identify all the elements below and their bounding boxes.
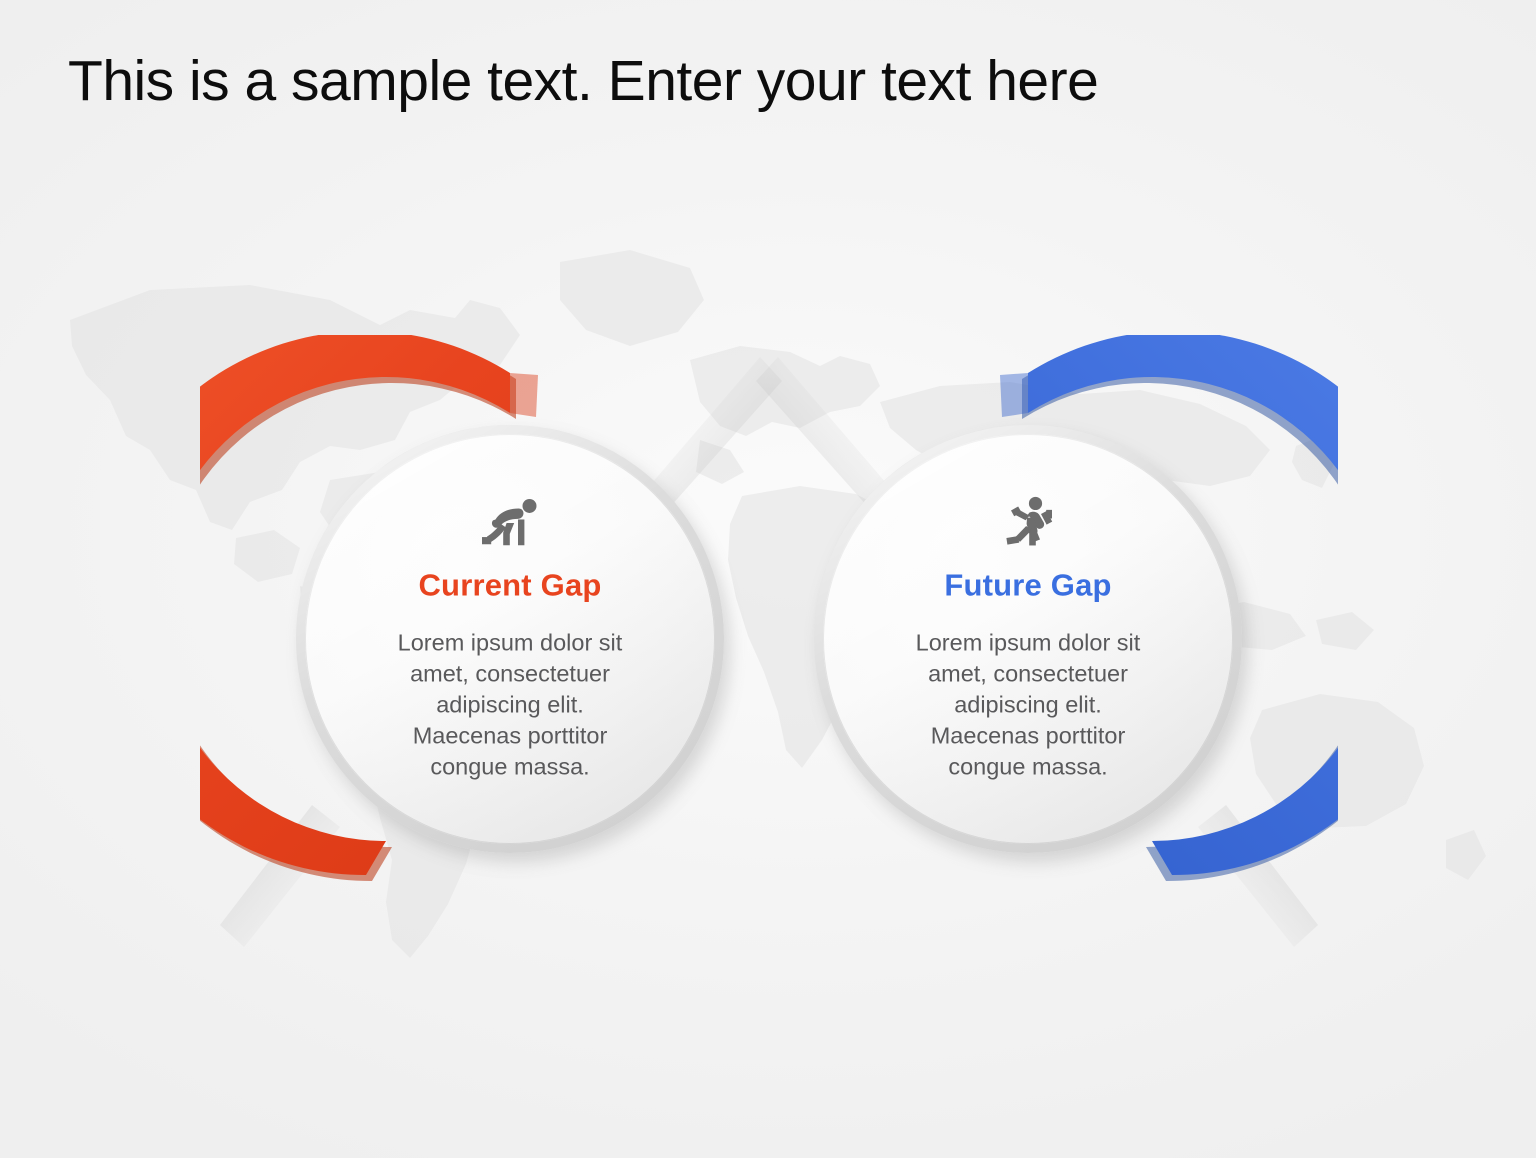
body-line: congue massa. xyxy=(948,754,1107,780)
future-gap-heading: Future Gap xyxy=(848,567,1208,603)
future-gap-disc: Future Gap Lorem ipsum dolor sit amet, c… xyxy=(814,425,1242,853)
crouching-sprinter-icon xyxy=(478,495,542,553)
running-person-icon xyxy=(996,495,1060,553)
current-gap-body: Lorem ipsum dolor sit amet, consectetuer… xyxy=(330,627,690,782)
slide-canvas: This is a sample text. Enter your text h… xyxy=(0,0,1536,1158)
body-line: amet, consectetuer xyxy=(410,660,610,686)
current-gap-content: Current Gap Lorem ipsum dolor sit amet, … xyxy=(330,495,690,782)
page-title: This is a sample text. Enter your text h… xyxy=(68,52,1098,112)
current-gap-heading: Current Gap xyxy=(330,567,690,603)
body-line: adipiscing elit. xyxy=(954,691,1102,717)
future-gap-body: Lorem ipsum dolor sit amet, consectetuer… xyxy=(848,627,1208,782)
body-line: adipiscing elit. xyxy=(436,691,584,717)
body-line: Lorem ipsum dolor sit xyxy=(916,629,1141,655)
current-gap-disc: Current Gap Lorem ipsum dolor sit amet, … xyxy=(296,425,724,853)
body-line: amet, consectetuer xyxy=(928,660,1128,686)
body-line: Lorem ipsum dolor sit xyxy=(398,629,623,655)
gap-item-future[interactable]: Future Gap Lorem ipsum dolor sit amet, c… xyxy=(718,335,1338,955)
body-line: congue massa. xyxy=(430,754,589,780)
future-gap-content: Future Gap Lorem ipsum dolor sit amet, c… xyxy=(848,495,1208,782)
body-line: Maecenas porttitor xyxy=(413,723,608,749)
body-line: Maecenas porttitor xyxy=(931,723,1126,749)
